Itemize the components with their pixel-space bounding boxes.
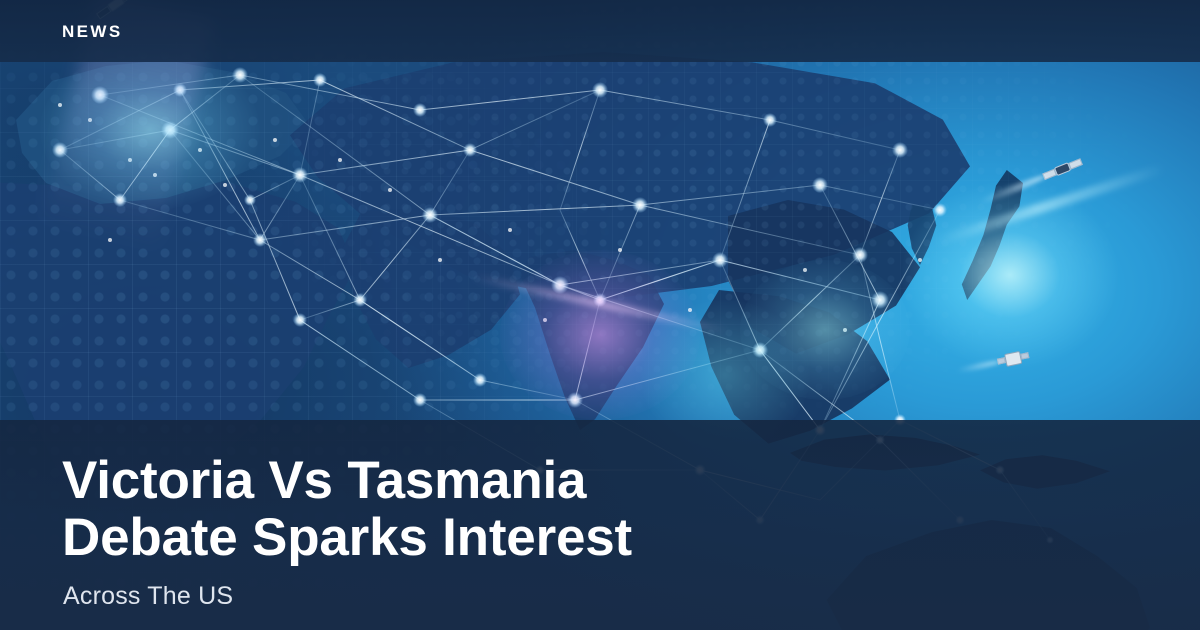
- news-kicker-label: NEWS: [62, 22, 123, 42]
- headline-line-1: Victoria Vs Tasmania: [62, 451, 586, 510]
- top-overlay-band: [0, 0, 1200, 62]
- headline-line-2: Debate Sparks Interest: [62, 509, 1122, 566]
- page-title: Victoria Vs Tasmania Debate Sparks Inter…: [62, 452, 1122, 566]
- news-banner: NEWS Victoria Vs Tasmania Debate Sparks …: [0, 0, 1200, 630]
- subheadline: Across The US: [63, 582, 233, 611]
